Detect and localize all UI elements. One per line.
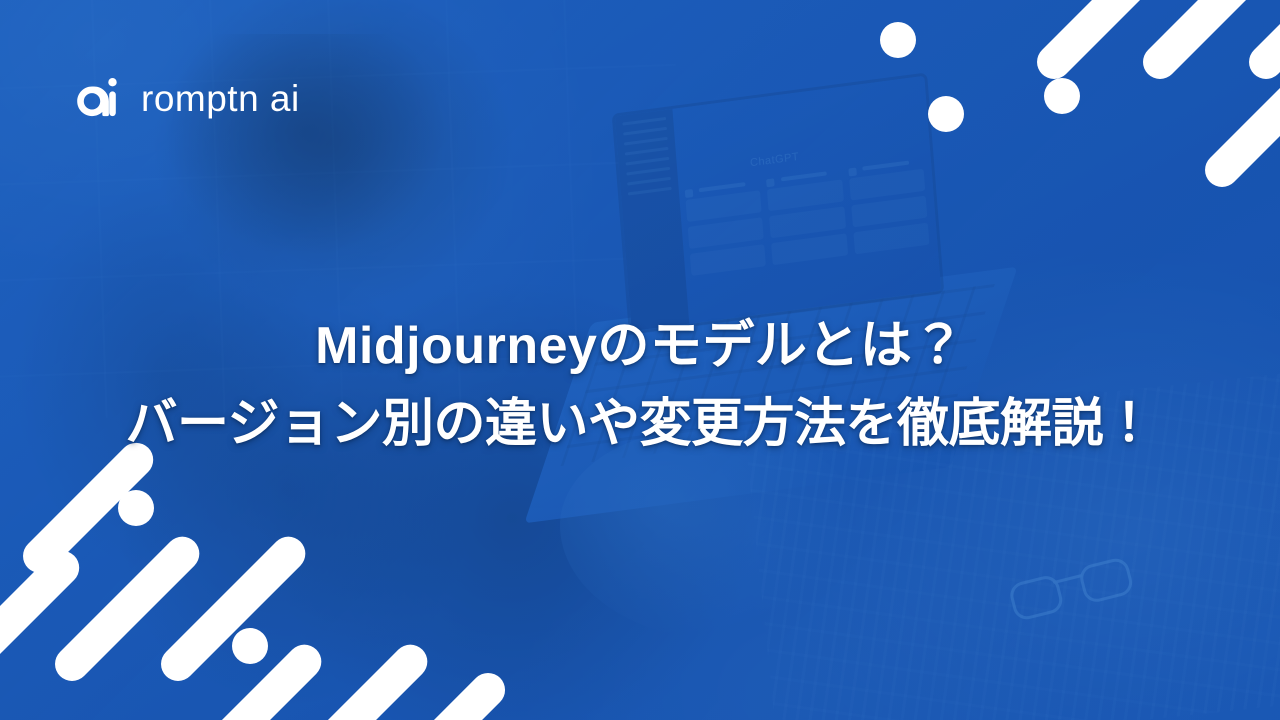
romptn-ai-monogram-icon — [72, 72, 120, 124]
page-title-line-2: バージョン別の違いや変更方法を徹底解説！ — [24, 385, 1256, 463]
site-logo[interactable]: romptn ai — [72, 72, 300, 124]
thumbnail-canvas: ChatGPT — [0, 0, 1280, 720]
logo-wordmark: romptn ai — [141, 80, 300, 117]
page-title-line-1: Midjourneyのモデルとは？ — [24, 307, 1256, 385]
page-title: Midjourneyのモデルとは？ バージョン別の違いや変更方法を徹底解説！ — [0, 307, 1280, 463]
